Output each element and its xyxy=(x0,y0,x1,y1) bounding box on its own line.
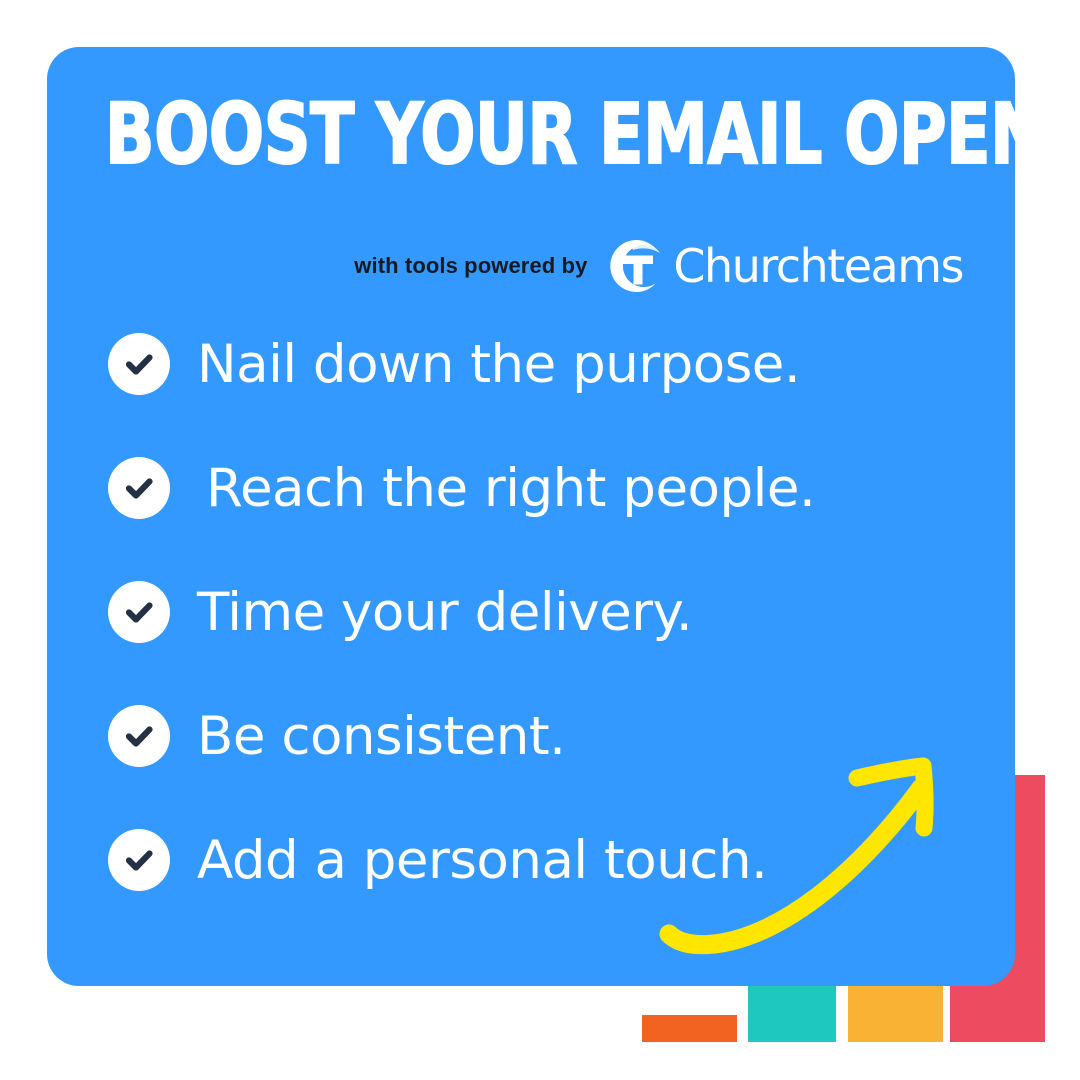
page-title: BOOST YOUR EMAIL OPEN RATES xyxy=(105,95,845,175)
churchteams-logo: Churchteams xyxy=(603,236,963,296)
checklist-item-label-1: Nail down the purpose. xyxy=(197,338,800,391)
list-item: Reach the right people. xyxy=(108,426,1008,550)
check-circle-icon xyxy=(108,333,170,395)
checklist: Nail down the purpose. Reach the right p… xyxy=(108,302,1008,922)
poster-canvas: BOOST YOUR EMAIL OPEN RATES with tools p… xyxy=(0,0,1080,1080)
powered-by-label: with tools powered by xyxy=(354,253,587,279)
check-circle-icon xyxy=(108,581,170,643)
list-item: Add a personal touch. xyxy=(108,798,1008,922)
check-circle-icon xyxy=(108,829,170,891)
powered-by-row: with tools powered by Churchteams xyxy=(47,233,1015,299)
check-circle-icon xyxy=(108,457,170,519)
churchteams-circle-t-logo xyxy=(603,236,671,296)
list-item: Nail down the purpose. xyxy=(108,302,1008,426)
list-item: Be consistent. xyxy=(108,674,1008,798)
checklist-item-label-3: Time your delivery. xyxy=(197,586,692,639)
churchteams-wordmark: Churchteams xyxy=(673,243,963,289)
bar-chart-bar-1 xyxy=(642,1015,737,1042)
checklist-item-label-2: Reach the right people. xyxy=(206,462,815,515)
list-item: Time your delivery. xyxy=(108,550,1008,674)
blue-card: BOOST YOUR EMAIL OPEN RATES with tools p… xyxy=(47,47,1015,986)
checklist-item-label-4: Be consistent. xyxy=(197,710,566,763)
check-circle-icon xyxy=(108,705,170,767)
checklist-item-label-5: Add a personal touch. xyxy=(197,834,767,887)
